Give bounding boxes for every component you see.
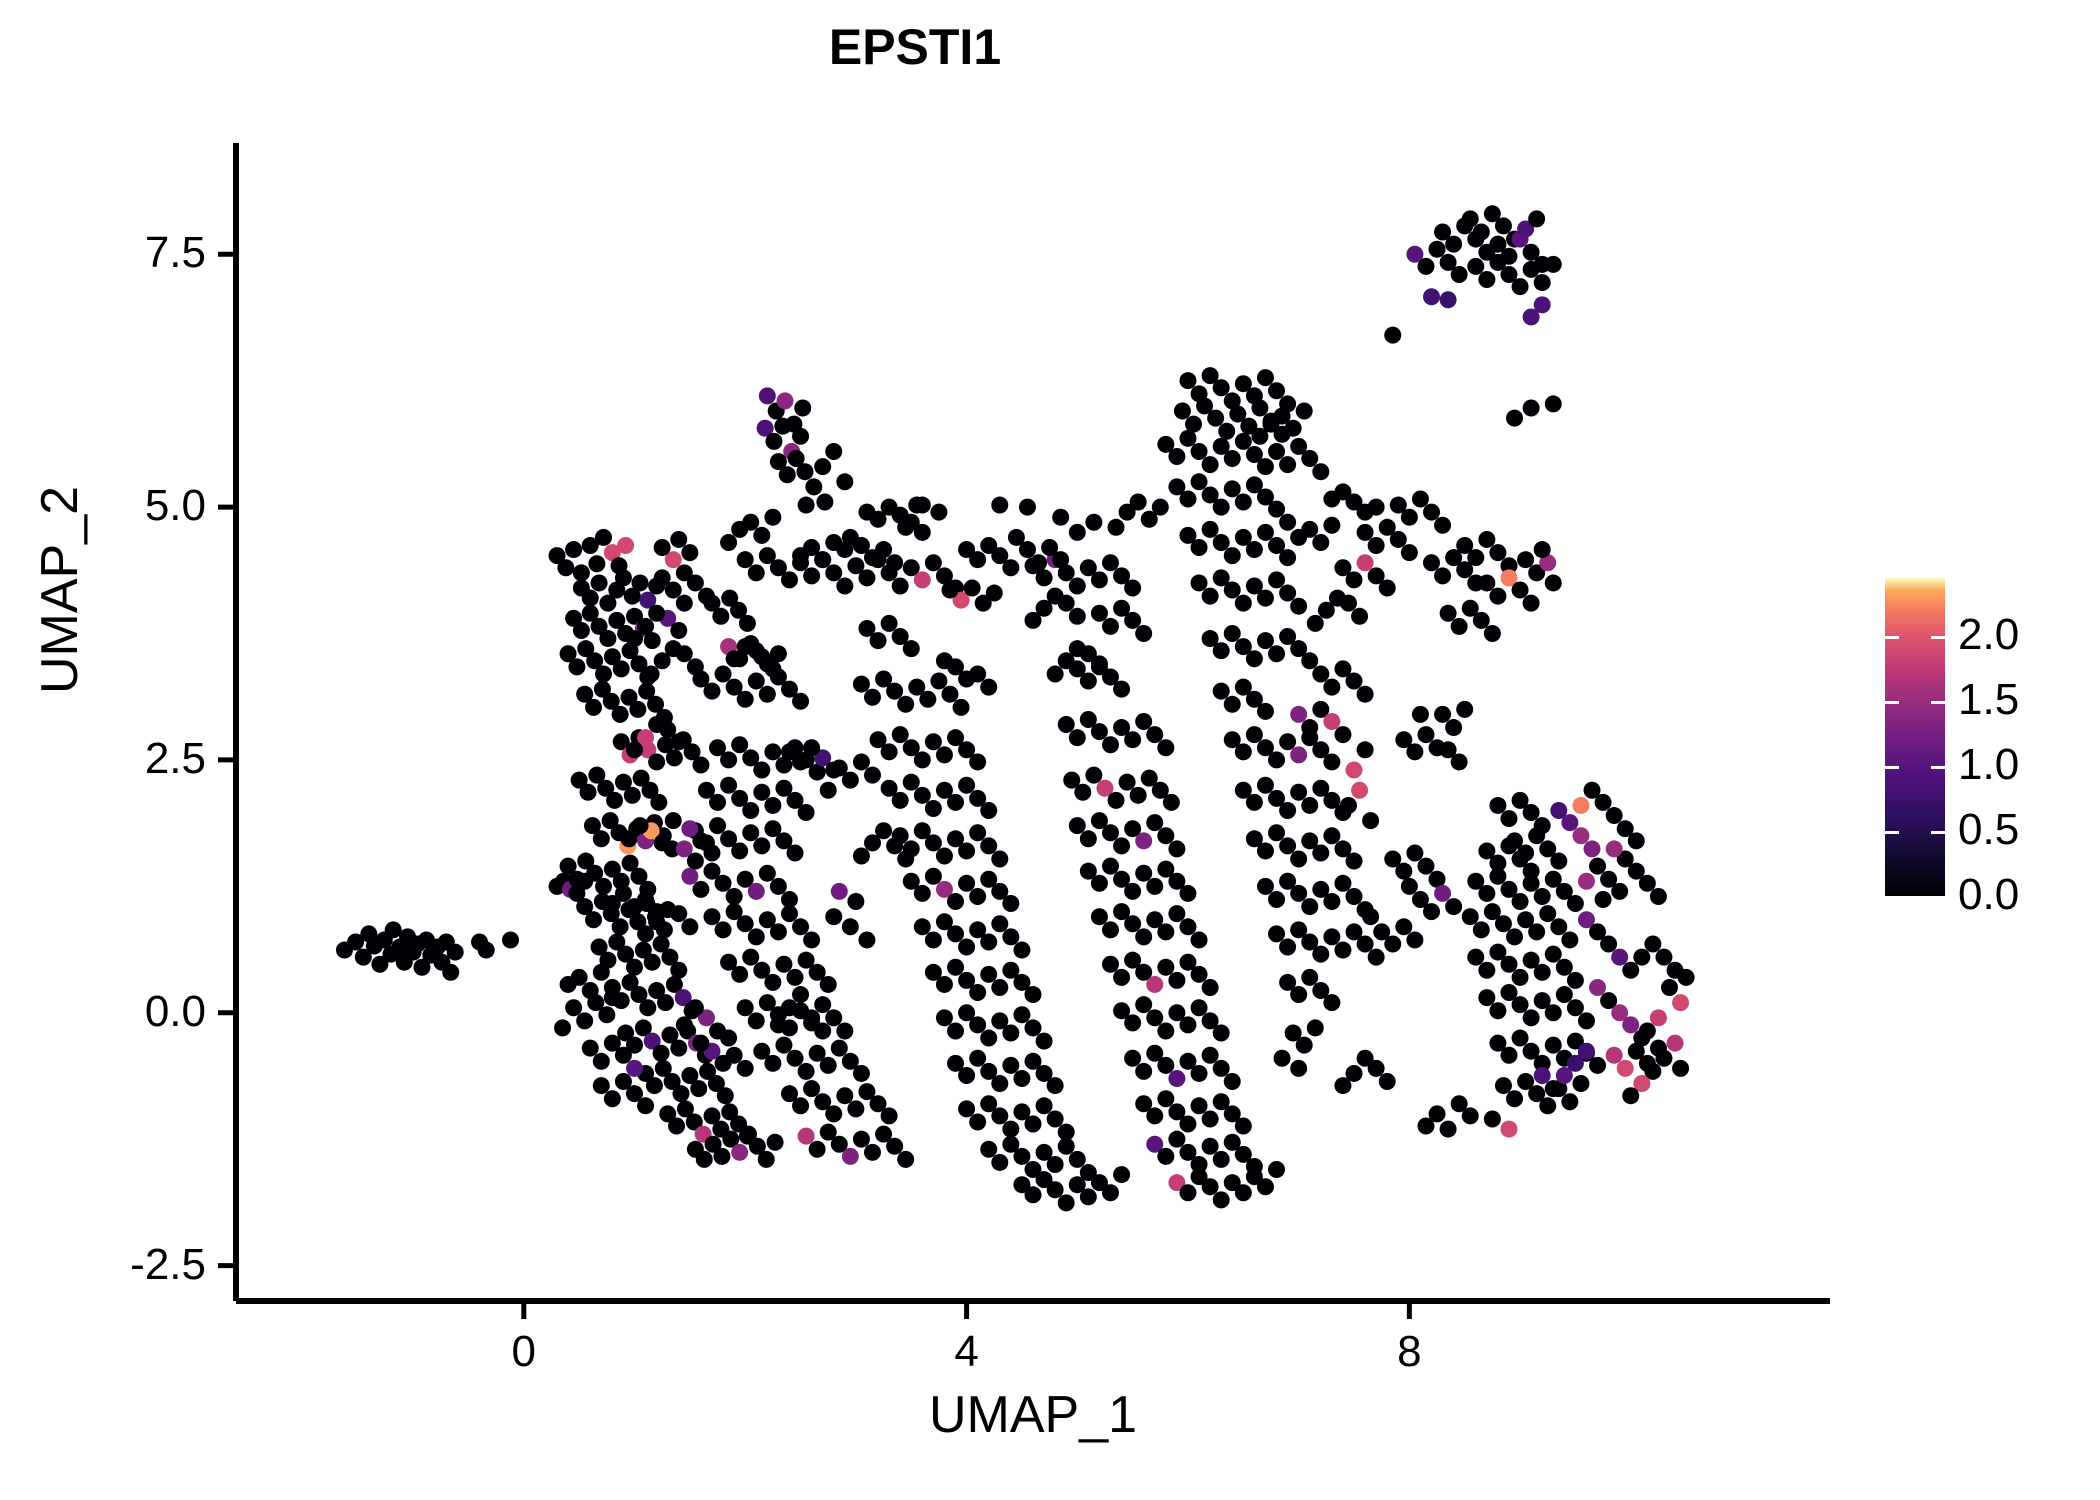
data-point	[1224, 450, 1241, 467]
data-point	[991, 979, 1008, 996]
chart-root: EPSTI1 UMAP_2 UMAP_1 -2.50.02.55.07.5 04…	[0, 0, 2100, 1500]
data-point	[1357, 686, 1374, 703]
data-point	[1534, 541, 1551, 558]
data-point	[1224, 696, 1241, 713]
data-point	[1146, 878, 1163, 895]
data-point	[604, 989, 621, 1006]
data-point	[836, 473, 853, 490]
data-point	[698, 588, 715, 605]
data-point	[1539, 905, 1556, 922]
data-point	[1523, 1009, 1540, 1026]
data-point	[731, 1144, 748, 1161]
data-point	[1257, 369, 1274, 386]
data-point	[1368, 949, 1385, 966]
data-point	[803, 1009, 820, 1026]
data-point	[796, 463, 813, 480]
data-point	[576, 1012, 593, 1029]
data-point	[1595, 891, 1612, 908]
data-point	[853, 848, 870, 865]
data-point	[1080, 1188, 1097, 1205]
data-point	[1545, 395, 1562, 412]
data-point	[1550, 918, 1567, 935]
data-point	[1423, 504, 1440, 521]
data-point	[1074, 784, 1091, 801]
data-point	[1318, 602, 1335, 619]
data-point	[798, 497, 815, 514]
data-point	[1534, 888, 1551, 905]
data-point	[1251, 428, 1268, 445]
data-point	[1556, 986, 1573, 1003]
data-point	[1102, 956, 1119, 973]
data-point	[1130, 787, 1147, 804]
data-point	[1108, 792, 1125, 809]
data-point	[1019, 541, 1036, 558]
data-point	[1323, 753, 1340, 770]
colorbar-tick	[1885, 636, 1899, 639]
data-point	[1545, 946, 1562, 963]
data-point	[1052, 509, 1069, 526]
colorbar-tick	[1885, 831, 1899, 834]
data-point	[1534, 964, 1551, 981]
data-point	[1157, 1148, 1174, 1165]
data-point	[1539, 1097, 1556, 1114]
data-point	[1489, 544, 1506, 561]
data-point	[1113, 837, 1130, 854]
data-point	[775, 956, 792, 973]
data-point	[925, 733, 942, 750]
data-point	[1545, 1080, 1562, 1097]
data-point	[657, 994, 674, 1011]
data-point	[1362, 812, 1379, 829]
data-point	[1528, 827, 1545, 844]
data-point	[643, 665, 660, 682]
data-point	[1019, 499, 1036, 516]
data-point	[1025, 1186, 1042, 1203]
data-point	[1478, 989, 1495, 1006]
data-point	[648, 716, 665, 733]
data-point	[1135, 625, 1152, 642]
data-point	[792, 1097, 809, 1114]
data-point	[991, 851, 1008, 868]
data-point	[717, 1087, 734, 1104]
data-point	[980, 679, 997, 696]
data-point	[1274, 1050, 1291, 1067]
data-point	[1135, 865, 1152, 882]
data-point	[668, 1118, 685, 1135]
data-point	[1628, 832, 1645, 849]
data-point	[914, 885, 931, 902]
data-point	[1168, 1131, 1185, 1148]
data-point	[1473, 224, 1490, 241]
data-point	[681, 868, 698, 885]
data-point	[726, 1047, 743, 1064]
data-point	[1102, 618, 1119, 635]
data-point	[1495, 1077, 1512, 1094]
data-point	[1235, 1118, 1252, 1135]
data-point	[670, 531, 687, 548]
colorbar-tick	[1931, 636, 1945, 639]
data-point	[1406, 931, 1423, 948]
data-point	[1357, 741, 1374, 758]
data-point	[580, 784, 597, 801]
data-point	[1002, 1121, 1019, 1138]
data-point	[881, 743, 898, 760]
data-point	[1213, 499, 1230, 516]
data-point	[739, 615, 756, 632]
data-point	[1124, 612, 1141, 629]
data-point	[624, 787, 641, 804]
data-point	[814, 996, 831, 1013]
data-point	[1312, 844, 1329, 861]
data-point	[1124, 1050, 1141, 1067]
data-point	[1091, 875, 1108, 892]
data-point	[1429, 241, 1446, 258]
data-point	[1279, 585, 1296, 602]
data-point	[1622, 1087, 1639, 1104]
data-point	[737, 999, 754, 1016]
data-point	[1379, 1073, 1396, 1090]
data-point	[1478, 531, 1495, 548]
data-point	[781, 905, 798, 922]
data-point	[1036, 1097, 1053, 1114]
data-point	[1069, 608, 1086, 625]
data-point	[825, 908, 842, 925]
data-point	[1146, 1107, 1163, 1124]
data-point	[1489, 588, 1506, 605]
data-point	[1584, 782, 1601, 799]
data-point	[842, 772, 859, 789]
data-point	[853, 1131, 870, 1148]
data-point	[825, 443, 842, 460]
data-point	[1224, 582, 1241, 599]
data-point	[770, 645, 787, 662]
data-point	[1534, 274, 1551, 291]
scatter-plot-canvas	[0, 0, 2100, 1500]
data-point	[1191, 385, 1208, 402]
data-point	[986, 585, 1003, 602]
data-point	[1268, 751, 1285, 768]
data-point	[1357, 554, 1374, 571]
data-point	[770, 1016, 787, 1033]
data-point	[991, 1154, 1008, 1171]
data-point	[1528, 210, 1545, 227]
data-point	[1218, 423, 1235, 440]
data-point	[1334, 1077, 1351, 1094]
colorbar-tick-label: 1.0	[1958, 740, 2019, 790]
data-point	[980, 537, 997, 554]
data-point	[692, 1035, 709, 1052]
data-point	[1246, 650, 1263, 667]
data-point	[764, 743, 781, 760]
colorbar-tick	[1885, 766, 1899, 769]
data-point	[1279, 549, 1296, 566]
data-point	[847, 893, 864, 910]
data-point	[1633, 949, 1650, 966]
data-point	[1069, 729, 1086, 746]
data-point	[1572, 797, 1589, 814]
data-point	[1523, 595, 1540, 612]
data-point	[1445, 898, 1462, 915]
data-point	[1191, 1097, 1208, 1114]
data-point	[1179, 918, 1196, 935]
data-point	[1202, 979, 1219, 996]
data-point	[565, 999, 582, 1016]
data-points-group	[336, 205, 1695, 1211]
x-axis-label: UMAP_1	[236, 1385, 1830, 1445]
data-point	[914, 787, 931, 804]
data-point	[803, 739, 820, 756]
data-point	[886, 837, 903, 854]
data-point	[1462, 1107, 1479, 1124]
data-point	[599, 630, 616, 647]
data-point	[1168, 1070, 1185, 1087]
data-point	[1257, 777, 1274, 794]
data-point	[1639, 1022, 1656, 1039]
data-point	[1545, 256, 1562, 273]
data-point	[709, 817, 726, 834]
data-point	[1484, 625, 1501, 642]
data-point	[1301, 652, 1318, 669]
data-point	[1301, 450, 1318, 467]
data-point	[820, 976, 837, 993]
data-point	[1417, 1118, 1434, 1135]
data-point	[588, 555, 605, 572]
data-point	[1296, 403, 1313, 420]
data-point	[870, 632, 887, 649]
data-point	[1611, 883, 1628, 900]
data-point	[1025, 1116, 1042, 1133]
data-point	[1512, 582, 1529, 599]
colorbar-tick	[1931, 701, 1945, 704]
data-point	[629, 701, 646, 718]
data-point	[964, 580, 981, 597]
data-point	[1036, 1033, 1053, 1050]
data-point	[969, 665, 986, 682]
data-point	[794, 399, 811, 416]
data-point	[847, 1100, 864, 1117]
data-point	[1667, 1035, 1684, 1052]
data-point	[654, 539, 671, 556]
data-point	[777, 392, 794, 409]
data-point	[1512, 893, 1529, 910]
data-point	[447, 944, 464, 961]
data-point	[781, 999, 798, 1016]
data-point	[1290, 706, 1307, 723]
data-point	[598, 1006, 615, 1023]
data-point	[1080, 673, 1097, 690]
data-point	[1323, 491, 1340, 508]
data-point	[1124, 883, 1141, 900]
data-point	[1617, 1060, 1634, 1077]
data-point	[1108, 519, 1125, 536]
data-point	[1002, 928, 1019, 945]
data-point	[1650, 1009, 1667, 1026]
data-point	[1500, 1121, 1517, 1138]
data-point	[1235, 433, 1252, 450]
data-point	[892, 726, 909, 743]
data-point	[726, 650, 743, 667]
data-point	[858, 504, 875, 521]
data-point	[1179, 1016, 1196, 1033]
data-point	[626, 959, 643, 976]
data-point	[897, 1151, 914, 1168]
data-point	[1102, 858, 1119, 875]
data-point	[670, 1040, 687, 1057]
data-point	[1323, 994, 1340, 1011]
data-point	[681, 544, 698, 561]
data-point	[842, 918, 859, 935]
data-point	[1462, 210, 1479, 227]
data-point	[1257, 1178, 1274, 1195]
data-point	[1202, 1047, 1219, 1064]
data-point	[953, 699, 970, 716]
data-point	[1473, 921, 1490, 938]
data-point	[703, 844, 720, 861]
data-point	[1346, 762, 1363, 779]
data-point	[1268, 925, 1285, 942]
data-point	[1191, 443, 1208, 460]
data-point	[1412, 891, 1429, 908]
data-point	[595, 529, 612, 546]
data-point	[1052, 551, 1069, 568]
data-point	[798, 1063, 815, 1080]
data-point	[980, 802, 997, 819]
data-point	[1489, 1002, 1506, 1019]
data-point	[1290, 851, 1307, 868]
data-point	[914, 751, 931, 768]
y-tick-label: 7.5	[145, 228, 206, 278]
data-point	[1340, 797, 1357, 814]
data-point	[1423, 288, 1440, 305]
data-point	[792, 547, 809, 564]
data-point	[681, 918, 698, 935]
data-point	[1334, 875, 1351, 892]
data-point	[1384, 935, 1401, 952]
data-point	[1213, 1151, 1230, 1168]
data-point	[958, 875, 975, 892]
data-point	[947, 959, 964, 976]
data-point	[1296, 1037, 1313, 1054]
data-point	[692, 881, 709, 898]
data-point	[1434, 567, 1451, 584]
data-point	[1567, 895, 1584, 912]
data-point	[1440, 605, 1457, 622]
data-point	[1561, 1093, 1578, 1110]
data-point	[980, 966, 997, 983]
data-point	[612, 706, 629, 723]
data-point	[1473, 612, 1490, 629]
data-point	[1445, 719, 1462, 736]
data-point	[969, 1113, 986, 1130]
data-point	[1124, 915, 1141, 932]
data-point	[925, 868, 942, 885]
colorbar-tick	[1931, 831, 1945, 834]
data-point	[626, 1060, 643, 1077]
data-point	[585, 911, 602, 928]
data-point	[1124, 580, 1141, 597]
data-point	[1290, 1060, 1307, 1077]
data-point	[864, 1144, 881, 1161]
data-point	[442, 964, 459, 981]
data-point	[1440, 1121, 1457, 1138]
data-point	[1069, 817, 1086, 834]
data-point	[1013, 1006, 1030, 1023]
data-point	[792, 693, 809, 710]
data-point	[881, 1107, 898, 1124]
data-point	[1113, 1166, 1130, 1183]
data-point	[742, 824, 759, 841]
data-point	[969, 1050, 986, 1067]
data-point	[593, 1053, 610, 1070]
data-point	[1368, 499, 1385, 516]
data-point	[1047, 1110, 1064, 1127]
data-point	[914, 918, 931, 935]
data-point	[1224, 392, 1241, 409]
data-point	[1235, 743, 1252, 760]
colorbar-tick-label: 1.5	[1958, 675, 2019, 725]
data-point	[914, 571, 931, 588]
data-point	[1589, 858, 1606, 875]
data-point	[1146, 814, 1163, 831]
data-point	[1357, 935, 1374, 952]
data-point	[1091, 605, 1108, 622]
data-point	[654, 652, 671, 669]
data-point	[941, 686, 958, 703]
data-point	[1290, 986, 1307, 1003]
data-point	[1279, 939, 1296, 956]
data-point	[1202, 1110, 1219, 1127]
data-point	[875, 541, 892, 558]
data-point	[758, 1151, 775, 1168]
data-point	[709, 794, 726, 811]
data-point	[753, 784, 770, 801]
data-point	[1002, 1024, 1019, 1041]
data-point	[502, 931, 519, 948]
data-point	[1639, 875, 1656, 892]
data-point	[969, 1016, 986, 1033]
data-point	[670, 733, 687, 750]
data-point	[980, 1030, 997, 1047]
data-point	[1224, 547, 1241, 564]
data-point	[1578, 1043, 1595, 1060]
colorbar-gradient	[1885, 578, 1945, 896]
data-point	[958, 541, 975, 558]
data-point	[1246, 541, 1263, 558]
data-point	[1672, 1060, 1689, 1077]
data-point	[557, 559, 574, 576]
colorbar-tick	[1931, 896, 1945, 899]
data-point	[1600, 935, 1617, 952]
data-point	[1179, 1184, 1196, 1201]
data-point	[1451, 753, 1468, 770]
data-point	[1500, 1047, 1517, 1064]
data-point	[1191, 539, 1208, 556]
data-point	[1301, 797, 1318, 814]
data-point	[1058, 1194, 1075, 1211]
data-point	[858, 931, 875, 948]
data-point	[779, 466, 796, 483]
data-point	[615, 569, 632, 586]
data-point	[1434, 885, 1451, 902]
data-point	[1290, 598, 1307, 615]
data-point	[715, 921, 732, 938]
data-point	[1157, 739, 1174, 756]
data-point	[753, 527, 770, 544]
y-tick-label: -2.5	[130, 1240, 206, 1290]
data-point	[820, 1057, 837, 1074]
data-point	[803, 567, 820, 584]
data-point	[836, 1022, 853, 1039]
